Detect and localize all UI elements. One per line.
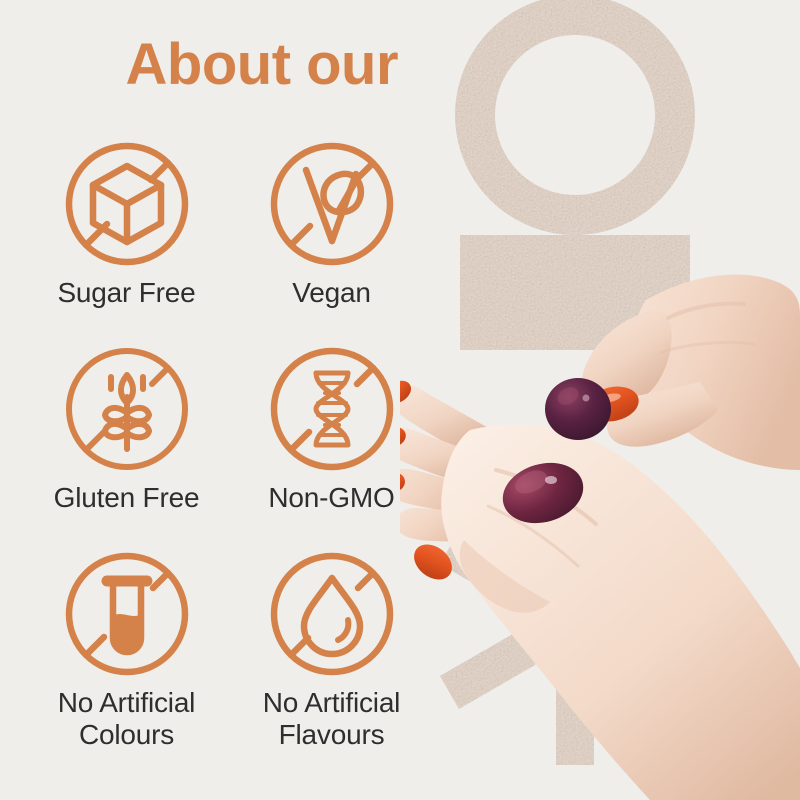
no-sugar-cube-icon	[63, 140, 191, 268]
feature-label-line1: Non-GMO	[268, 482, 394, 513]
feature-label-line2: Flavours	[263, 719, 400, 751]
feature-label: No Artificial Flavours	[263, 687, 400, 751]
feature-label-line2: Colours	[58, 719, 195, 751]
product-infographic: About our Gummies	[0, 0, 800, 800]
feature-no-artificial-colours[interactable]: No Artificial Colours	[24, 550, 229, 765]
hero-illustration	[400, 0, 800, 800]
feature-vegan[interactable]: Vegan	[229, 140, 434, 345]
feature-label-line1: Gluten Free	[54, 482, 200, 513]
hero-artwork-svg	[400, 0, 800, 800]
feature-sugar-free[interactable]: Sugar Free	[24, 140, 229, 345]
feature-label-line1: No Artificial	[58, 687, 195, 718]
feature-label: Non-GMO	[268, 482, 394, 514]
feature-label: Sugar Free	[57, 277, 195, 309]
feature-label-line1: Sugar Free	[57, 277, 195, 308]
no-water-droplet-icon	[268, 550, 396, 678]
feature-label-line1: No Artificial	[263, 687, 400, 718]
feature-gluten-free[interactable]: Gluten Free	[24, 345, 229, 550]
feature-label: Vegan	[292, 277, 370, 309]
no-vegan-leaf-icon	[268, 140, 396, 268]
feature-no-artificial-flavours[interactable]: No Artificial Flavours	[229, 550, 434, 765]
feature-grid: Sugar Free Vegan	[24, 140, 434, 765]
feature-non-gmo[interactable]: Non-GMO	[229, 345, 434, 550]
feature-label: Gluten Free	[54, 482, 200, 514]
no-wheat-icon	[63, 345, 191, 473]
feature-label: No Artificial Colours	[58, 687, 195, 751]
no-test-tube-icon	[63, 550, 191, 678]
no-dna-helix-icon	[268, 345, 396, 473]
pinched-gummy	[545, 378, 611, 440]
feature-label-line1: Vegan	[292, 277, 370, 308]
